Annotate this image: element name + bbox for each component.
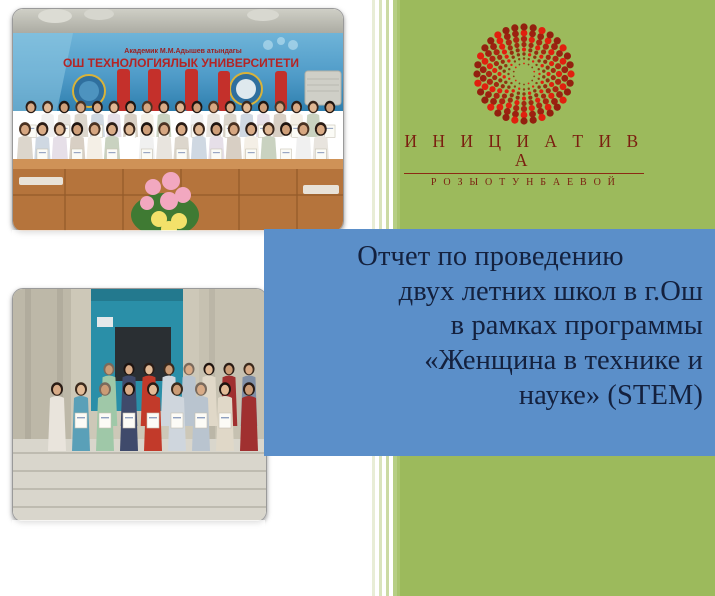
- slide-title: Отчет по проведению двух летних школ в г…: [278, 240, 703, 413]
- title-line-2: двух летних школ в г.Ош: [278, 275, 703, 310]
- presentation-slide: И Н И Ц И А Т И В А Р О З Ы О Т У Н Б А …: [0, 0, 715, 596]
- title-line-3: в рамках программы: [278, 309, 703, 344]
- title-line-1: Отчет по проведению: [278, 240, 703, 275]
- svg-text:Академик М.М.Адышев атындагы: Академик М.М.Адышев атындагы: [124, 48, 241, 55]
- slide-title-box: Отчет по проведению двух летних школ в г…: [264, 229, 715, 456]
- svg-text:ОШ ТЕХНОЛОГИЯЛЫК УНИВЕРСИТЕТИ: ОШ ТЕХНОЛОГИЯЛЫК УНИВЕРСИТЕТИ: [63, 56, 299, 70]
- organization-logo: И Н И Ц И А Т И В А Р О З Ы О Т У Н Б А …: [404, 18, 644, 168]
- photo-conference-hall-group: Академик М.М.Адышев атындагы ОШ ТЕХНОЛОГ…: [12, 8, 344, 232]
- logo-organization-name: И Н И Ц И А Т И В А: [404, 132, 644, 174]
- logo-organization-subtitle: Р О З Ы О Т У Н Б А Е В О Й: [404, 177, 644, 188]
- title-line-5: науке» (STEM): [278, 379, 703, 414]
- radial-dot-mandala-icon: [468, 18, 580, 130]
- building-steps-photo-image: [13, 289, 266, 521]
- conference-hall-photo-image: Академик М.М.Адышев атындагы ОШ ТЕХНОЛОГ…: [13, 9, 343, 231]
- title-line-4: «Женщина в технике и: [278, 344, 703, 379]
- photo-building-steps-reflection: [12, 520, 265, 584]
- photo-building-steps-group: [12, 288, 267, 522]
